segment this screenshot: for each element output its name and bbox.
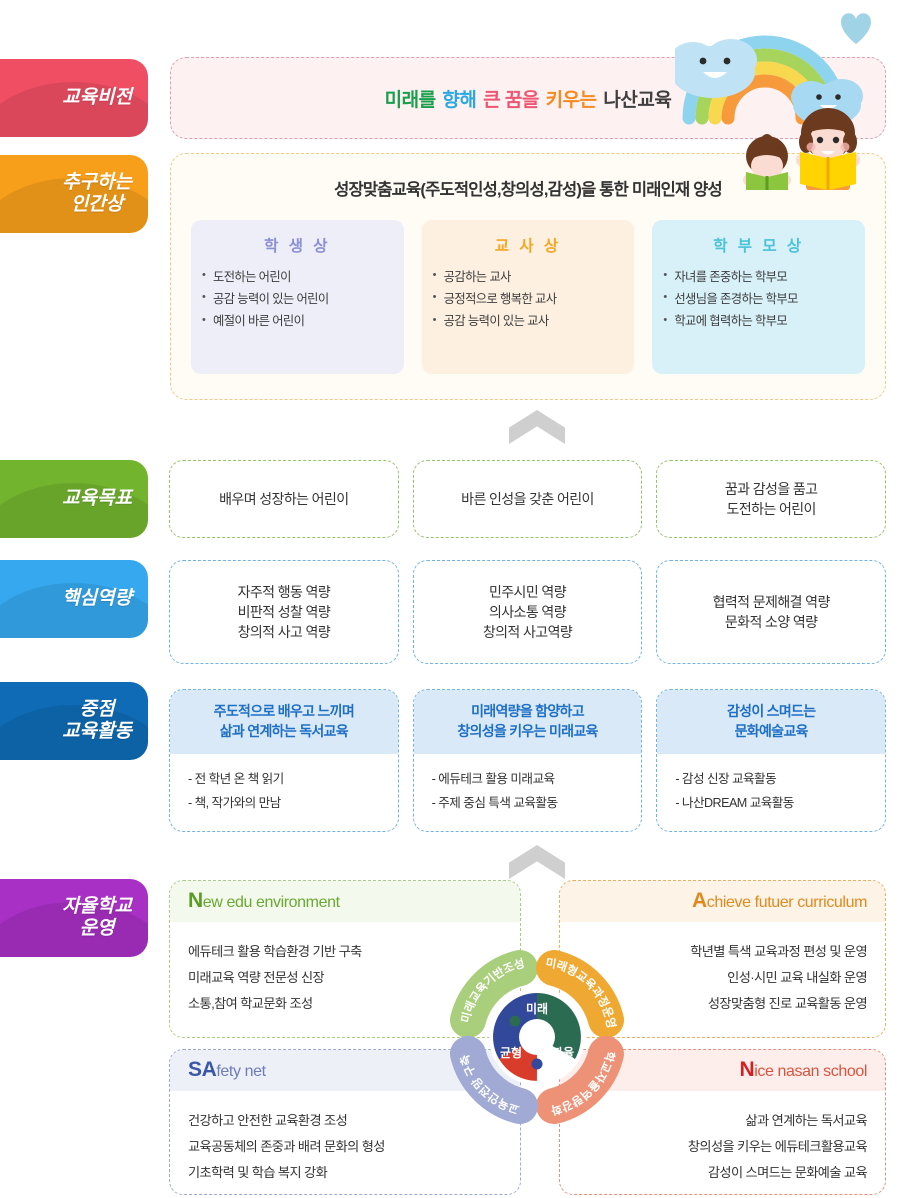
wheel-inner-label-autonomy: 자율 bbox=[552, 1045, 574, 1060]
parent-image-card: 학 부 모 상 자녀를 존중하는 학부모 선생님을 존경하는 학부모 학교에 협… bbox=[652, 220, 865, 374]
girl-reading-icon bbox=[796, 108, 860, 190]
list-item: 공감 능력이 있는 교사 bbox=[432, 311, 625, 333]
focus-activity-title: 미래역량을 함양하고 창의성을 키우는 미래교육 bbox=[414, 690, 642, 754]
vision-seg-3: 키우는 bbox=[546, 90, 597, 111]
list-item: 감성이 스며드는 문화예술 교육 bbox=[578, 1159, 867, 1185]
list-item: - 전 학년 온 책 읽기 bbox=[188, 767, 398, 791]
title-line: 감성이 스며드는 bbox=[661, 701, 881, 721]
sidebar-item-core-competencies[interactable]: 핵심역량 bbox=[0, 560, 148, 638]
goal-text: 배우며 성장하는 어린이 bbox=[219, 489, 348, 509]
competency-text: 창의적 사고 역량 bbox=[238, 622, 331, 642]
sidebar-item-label: 핵심역량 bbox=[62, 588, 132, 610]
wheel-inner-label-balance: 균형 bbox=[500, 1045, 522, 1060]
goal-text: 바른 인성을 갖춘 어린이 bbox=[461, 489, 594, 509]
competency-text: 문화적 소양 역량 bbox=[713, 612, 830, 632]
sidebar-item-label: 자율학교운영 bbox=[62, 896, 132, 940]
goal-box: 바른 인성을 갖춘 어린이 bbox=[413, 460, 643, 538]
list-item: 긍정적으로 행복한 교사 bbox=[432, 288, 625, 310]
focus-activity-title: 감성이 스며드는 문화예술교육 bbox=[657, 690, 885, 754]
list-item: 학교에 협력하는 학부모 bbox=[662, 311, 855, 333]
header-initial: N bbox=[739, 1058, 754, 1081]
title-line: 창의성을 키우는 미래교육 bbox=[418, 721, 638, 741]
competency-box: 민주시민 역량 의사소통 역량 창의적 사고역량 bbox=[413, 560, 643, 664]
human-image-panel: 성장맞춤교육(주도적인성,창의성,감성)을 통한 미래인재 양성 학 생 상 도… bbox=[170, 153, 886, 400]
teacher-image-card: 교 사 상 공감하는 교사 긍정적으로 행복한 교사 공감 능력이 있는 교사 bbox=[422, 220, 635, 374]
header-rest: chieve futuer curriculum bbox=[707, 894, 867, 911]
competency-box: 자주적 행동 역량 비판적 성찰 역량 창의적 사고 역량 bbox=[169, 560, 399, 664]
header-initial: N bbox=[188, 889, 203, 912]
title-line: 미래역량을 함양하고 bbox=[418, 701, 638, 721]
chevron-up-icon-top bbox=[509, 410, 565, 444]
competency-box: 협력적 문제해결 역량 문화적 소양 역량 bbox=[656, 560, 886, 664]
card-title: 교 사 상 bbox=[432, 234, 625, 256]
competency-text: 창의적 사고역량 bbox=[483, 622, 572, 642]
education-goals-row: 배우며 성장하는 어린이 바른 인성을 갖춘 어린이 꿈과 감성을 품고 도전하… bbox=[169, 460, 886, 538]
header-rest: ew edu environment bbox=[203, 894, 340, 911]
sidebar-item-label: 중점교육활동 bbox=[62, 699, 132, 743]
competency-text: 협력적 문제해결 역량 bbox=[713, 592, 830, 612]
list-item: 교육공동체의 존중과 배려 문화의 형성 bbox=[188, 1133, 502, 1159]
list-item: 도전하는 어린이 bbox=[201, 266, 394, 288]
focus-activities-row: 주도적으로 배우고 느끼며 삶과 연계하는 독서교육 - 전 학년 온 책 읽기… bbox=[169, 689, 886, 832]
sidebar-item-education-vision[interactable]: 교육비전 bbox=[0, 59, 148, 137]
header-initial: A bbox=[692, 889, 707, 912]
focus-activity-items: - 감성 신장 교육활동 - 나산DREAM 교육활동 bbox=[657, 754, 885, 831]
sidebar-item-education-goals[interactable]: 교육목표 bbox=[0, 460, 148, 538]
vision-seg-1: 향해 bbox=[442, 90, 476, 111]
vision-statement: 미래를 향해 큰 꿈을 키우는 나산교육 bbox=[384, 85, 673, 112]
wheel-inner-label-future: 미래 bbox=[526, 1001, 548, 1016]
title-line: 삶과 연계하는 독서교육 bbox=[174, 721, 394, 741]
card-item-list: 도전하는 어린이 공감 능력이 있는 어린이 예절이 바른 어린이 bbox=[201, 266, 394, 333]
vision-seg-4: 나산교육 bbox=[603, 90, 671, 111]
card-item-list: 자녀를 존중하는 학부모 선생님을 존경하는 학부모 학교에 협력하는 학부모 bbox=[662, 266, 855, 333]
human-image-cards: 학 생 상 도전하는 어린이 공감 능력이 있는 어린이 예절이 바른 어린이 … bbox=[191, 220, 865, 374]
sidebar-item-human-image[interactable]: 추구하는인간상 bbox=[0, 155, 148, 233]
focus-activity-card: 감성이 스며드는 문화예술교육 - 감성 신장 교육활동 - 나산DREAM 교… bbox=[656, 689, 886, 832]
panel-header: New edu environment bbox=[170, 881, 520, 922]
list-item: - 책, 작가와의 만남 bbox=[188, 791, 398, 815]
list-item: 창의성을 키우는 에듀테크활용교육 bbox=[578, 1133, 867, 1159]
header-rest: fety net bbox=[216, 1063, 265, 1080]
decorative-illustration bbox=[675, 0, 905, 190]
goal-text: 꿈과 감성을 품고 bbox=[725, 479, 818, 499]
competency-text: 민주시민 역량 bbox=[483, 582, 572, 602]
card-title: 학 부 모 상 bbox=[662, 234, 855, 256]
vision-seg-0: 미래를 bbox=[385, 90, 436, 111]
vision-diagram-page: 교육비전 추구하는인간상 교육목표 핵심역량 중점교육활동 자율학교운영 미래를… bbox=[0, 0, 905, 1198]
competency-text: 자주적 행동 역량 bbox=[238, 582, 331, 602]
core-competencies-row: 자주적 행동 역량 비판적 성찰 역량 창의적 사고 역량 민주시민 역량 의사… bbox=[169, 560, 886, 664]
goal-text: 도전하는 어린이 bbox=[725, 499, 818, 519]
sidebar-item-focus-activities[interactable]: 중점교육활동 bbox=[0, 682, 148, 760]
chevron-up-icon-bottom bbox=[509, 845, 565, 879]
goal-box: 배우며 성장하는 어린이 bbox=[169, 460, 399, 538]
card-title: 학 생 상 bbox=[201, 234, 394, 256]
list-item: - 에듀테크 활용 미래교육 bbox=[432, 767, 642, 791]
card-item-list: 공감하는 교사 긍정적으로 행복한 교사 공감 능력이 있는 교사 bbox=[432, 266, 625, 333]
competency-text: 비판적 성찰 역량 bbox=[238, 602, 331, 622]
focus-activity-card: 미래역량을 함양하고 창의성을 키우는 미래교육 - 에듀테크 활용 미래교육 … bbox=[413, 689, 643, 832]
sidebar-item-label: 교육목표 bbox=[62, 488, 132, 510]
list-item: - 주제 중심 특색 교육활동 bbox=[432, 791, 642, 815]
student-image-card: 학 생 상 도전하는 어린이 공감 능력이 있는 어린이 예절이 바른 어린이 bbox=[191, 220, 404, 374]
header-initial: SA bbox=[188, 1058, 216, 1081]
sidebar-item-autonomous-school[interactable]: 자율학교운영 bbox=[0, 879, 148, 957]
list-item: - 나산DREAM 교육활동 bbox=[675, 791, 885, 815]
sidebar-item-label: 추구하는인간상 bbox=[62, 172, 132, 216]
title-line: 문화예술교육 bbox=[661, 721, 881, 741]
sidebar-item-label: 교육비전 bbox=[62, 87, 132, 109]
header-rest: ice nasan school bbox=[754, 1063, 867, 1080]
list-item: 선생님을 존경하는 학부모 bbox=[662, 288, 855, 310]
focus-activity-card: 주도적으로 배우고 느끼며 삶과 연계하는 독서교육 - 전 학년 온 책 읽기… bbox=[169, 689, 399, 832]
focus-activity-items: - 전 학년 온 책 읽기 - 책, 작가와의 만남 bbox=[170, 754, 398, 831]
list-item: - 감성 신장 교육활동 bbox=[675, 767, 885, 791]
vision-wheel-diagram: 미래교육기반조성 미래형교육과정운영 학교자율역량강화 교육안전망 구축 bbox=[437, 937, 637, 1137]
list-item: 자녀를 존중하는 학부모 bbox=[662, 266, 855, 288]
focus-activity-items: - 에듀테크 활용 미래교육 - 주제 중심 특색 교육활동 bbox=[414, 754, 642, 831]
panel-header: Achieve futuer curriculum bbox=[560, 881, 885, 922]
boy-reading-icon bbox=[743, 134, 791, 190]
heart-icon bbox=[841, 13, 871, 44]
focus-activity-title: 주도적으로 배우고 느끼며 삶과 연계하는 독서교육 bbox=[170, 690, 398, 754]
competency-text: 의사소통 역량 bbox=[483, 602, 572, 622]
list-item: 예절이 바른 어린이 bbox=[201, 311, 394, 333]
list-item: 공감하는 교사 bbox=[432, 266, 625, 288]
title-line: 주도적으로 배우고 느끼며 bbox=[174, 701, 394, 721]
goal-box: 꿈과 감성을 품고 도전하는 어린이 bbox=[656, 460, 886, 538]
vision-seg-2: 큰 꿈을 bbox=[483, 90, 539, 111]
list-item: 공감 능력이 있는 어린이 bbox=[201, 288, 394, 310]
list-item: 기초학력 및 학습 복지 강화 bbox=[188, 1159, 502, 1185]
